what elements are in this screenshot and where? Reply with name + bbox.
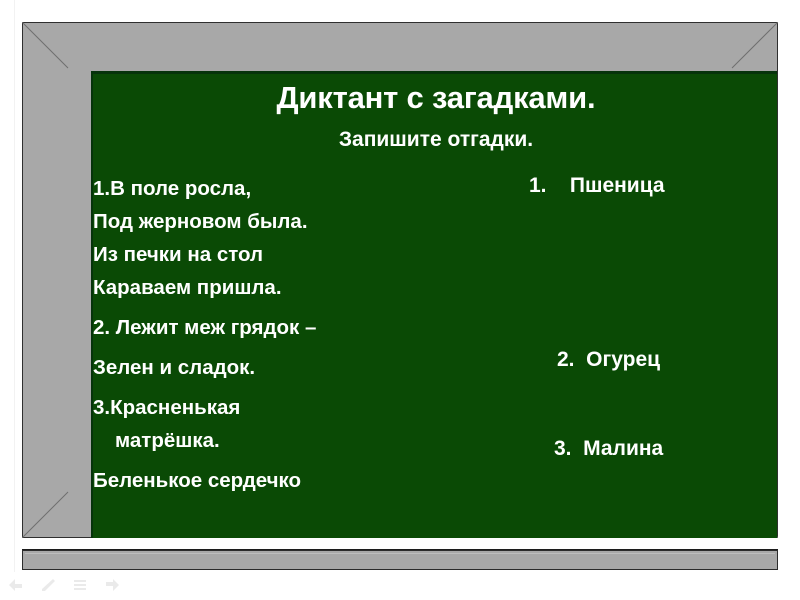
answer-item: 1. Пшеница	[529, 174, 665, 198]
riddle-line: 3.Красненькая	[93, 391, 493, 424]
arrow-left-icon[interactable]	[8, 578, 24, 592]
frame-corner-top-right	[730, 22, 778, 70]
arrow-right-icon[interactable]	[104, 578, 120, 592]
board-ledge-surface	[22, 538, 778, 550]
list-icon[interactable]	[72, 578, 88, 592]
riddle-line: Караваем пришла.	[93, 271, 493, 304]
answer-item: 2. Огурец	[557, 348, 660, 372]
riddle-line: Беленькое сердечко	[93, 464, 493, 497]
pencil-icon[interactable]	[40, 578, 56, 592]
chalkboard-surface: Диктант с загадками. Запишите отгадки. 1…	[91, 71, 777, 554]
slide-toolbar	[8, 578, 120, 592]
board-subtitle: Запишите отгадки.	[93, 128, 777, 152]
canvas-guide-line	[14, 0, 15, 572]
frame-corner-bottom-left	[22, 490, 70, 538]
riddle-line: Под жерновом была.	[93, 205, 493, 238]
riddle-line: матрёшка.	[93, 424, 493, 457]
riddle-column: 1.В поле росла, Под жерновом была. Из пе…	[93, 172, 493, 497]
board-ledge-highlight	[25, 553, 775, 567]
frame-corner-top-left	[22, 22, 70, 70]
chalkboard-frame: Диктант с загадками. Запишите отгадки. 1…	[22, 22, 778, 538]
riddle-line: Зелен и сладок.	[93, 351, 493, 384]
answer-item: 3. Малина	[554, 437, 663, 461]
riddle-line: 1.В поле росла,	[93, 172, 493, 205]
board-ledge-bar	[22, 550, 778, 570]
slide-canvas: Диктант с загадками. Запишите отгадки. 1…	[0, 0, 800, 600]
riddle-line: 2. Лежит меж грядок –	[93, 311, 493, 344]
riddle-line: Из печки на стол	[93, 238, 493, 271]
board-title: Диктант с загадками.	[93, 80, 777, 116]
